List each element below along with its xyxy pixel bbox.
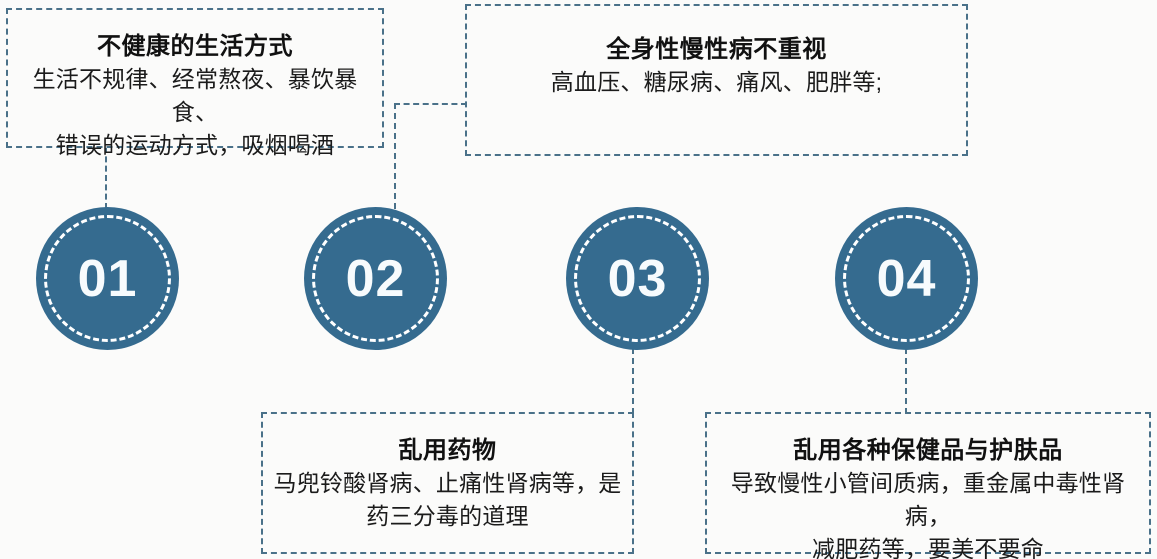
info-box-body-line: 高血压、糖尿病、痛风、肥胖等;	[551, 66, 882, 99]
info-box-step-2: 全身性慢性病不重视 高血压、糖尿病、痛风、肥胖等;	[465, 4, 968, 156]
info-box-title-1: 不健康的生活方式	[97, 32, 293, 63]
info-box-body-line: 药三分毒的道理	[273, 500, 623, 533]
info-box-body-line: 错误的运动方式，吸烟喝酒	[20, 129, 370, 162]
connector-circle3-to-box3	[632, 348, 634, 414]
step-number-label: 02	[346, 253, 406, 305]
info-box-body-line: 马兜铃酸肾病、止痛性肾病等，是	[273, 467, 623, 500]
infographic-canvas: 不健康的生活方式 生活不规律、经常熬夜、暴饮暴食、 错误的运动方式，吸烟喝酒 全…	[0, 0, 1157, 559]
info-box-step-4: 乱用各种保健品与护肤品 导致慢性小管间质病，重金属中毒性肾病， 减肥药等，要美不…	[705, 412, 1151, 554]
info-box-title-4: 乱用各种保健品与护肤品	[793, 436, 1063, 467]
connector-circle4-to-box4	[905, 348, 907, 414]
info-box-body-line: 导致慢性小管间质病，重金属中毒性肾病，	[713, 467, 1143, 534]
step-circle-02: 02	[304, 207, 447, 350]
step-circle-04: 04	[835, 207, 978, 350]
info-box-step-1: 不健康的生活方式 生活不规律、经常熬夜、暴饮暴食、 错误的运动方式，吸烟喝酒	[6, 8, 384, 148]
info-box-body-2: 高血压、糖尿病、痛风、肥胖等;	[551, 66, 882, 99]
step-circle-03: 03	[566, 207, 709, 350]
info-box-body-1: 生活不规律、经常熬夜、暴饮暴食、 错误的运动方式，吸烟喝酒	[20, 63, 370, 163]
info-box-title-3: 乱用药物	[399, 436, 497, 467]
info-box-title-2: 全身性慢性病不重视	[606, 35, 827, 66]
info-box-body-line: 生活不规律、经常熬夜、暴饮暴食、	[20, 63, 370, 130]
info-box-step-3: 乱用药物 马兜铃酸肾病、止痛性肾病等，是 药三分毒的道理	[261, 412, 634, 554]
step-number-label: 04	[877, 253, 937, 305]
info-box-body-3: 马兜铃酸肾病、止痛性肾病等，是 药三分毒的道理	[273, 467, 623, 534]
info-box-body-4: 导致慢性小管间质病，重金属中毒性肾病， 减肥药等，要美不要命	[713, 467, 1143, 559]
step-number-label: 03	[608, 253, 668, 305]
step-circle-01: 01	[36, 207, 179, 350]
info-box-body-line: 减肥药等，要美不要命	[713, 533, 1143, 559]
step-number-label: 01	[78, 253, 138, 305]
connector-box2-to-circle2	[394, 103, 396, 209]
connector-box2-horizontal	[394, 103, 467, 105]
